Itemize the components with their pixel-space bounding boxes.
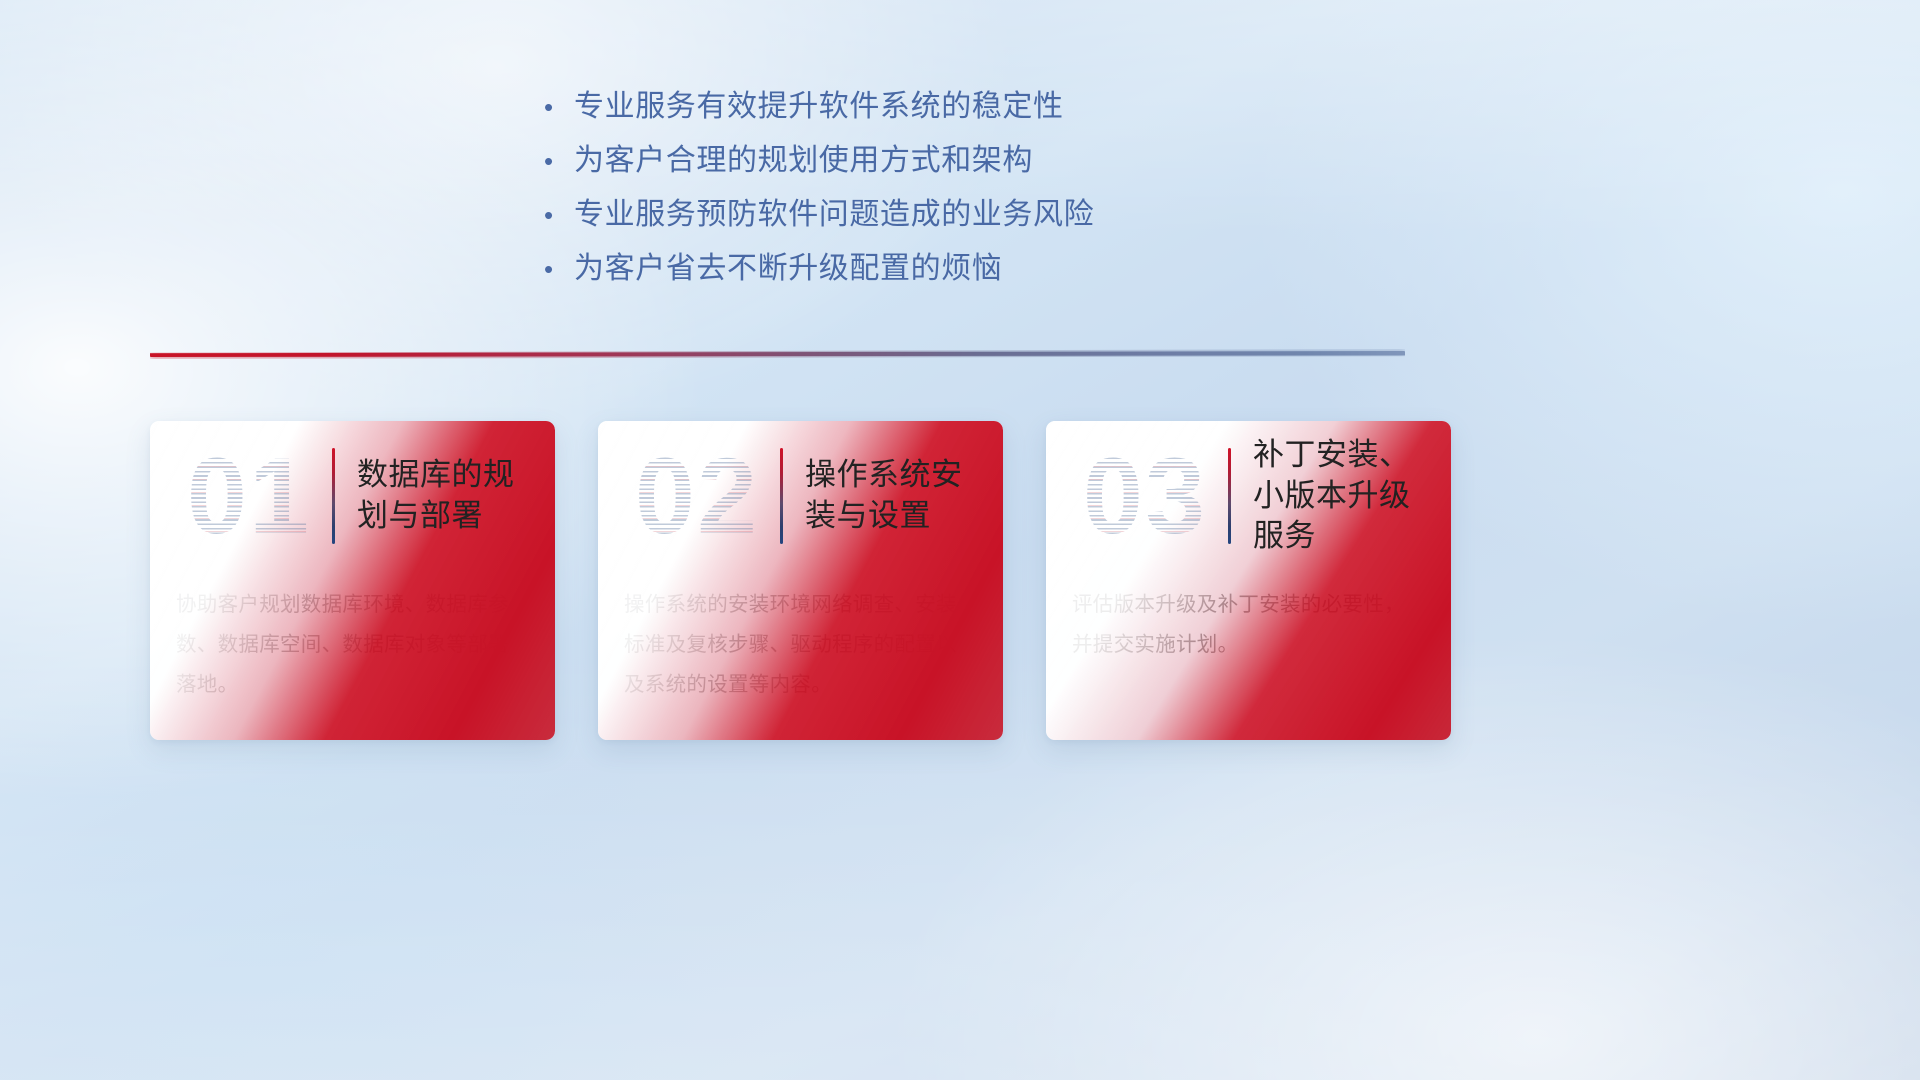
card-accent-bar — [780, 448, 783, 544]
card-title: 操作系统安装与设置 — [805, 455, 1003, 537]
card-number-watermark: 03 — [1066, 440, 1224, 552]
bullet-marker-icon: • — [540, 202, 574, 228]
card-description: 评估版本升级及补丁安装的必要性，并提交实施计划。 — [1046, 571, 1451, 665]
list-item: • 专业服务预防软件问题造成的业务风险 — [540, 196, 1260, 248]
bullet-text: 专业服务预防软件问题造成的业务风险 — [574, 196, 1094, 234]
card-header: 03 补丁安装、小版本升级服务 — [1046, 421, 1451, 571]
card-description: 操作系统的安装环境网络调查、安装标准及复核步骤、驱动程序的配置以及系统的设置等内… — [598, 571, 1003, 705]
service-card-row: 01 数据库的规划与部署 协助客户规划数据库环境、数据库参数、数据库空间、数据库… — [150, 421, 1452, 741]
card-number-watermark: 01 — [170, 440, 328, 552]
card-accent-bar — [332, 448, 335, 544]
bullet-marker-icon: • — [540, 148, 574, 174]
service-card-02[interactable]: 02 操作系统安装与设置 操作系统的安装环境网络调查、安装标准及复核步骤、驱动程… — [598, 421, 1003, 740]
card-header: 01 数据库的规划与部署 — [150, 421, 555, 571]
bullet-text: 为客户省去不断升级配置的烦恼 — [574, 250, 1002, 288]
benefits-bullet-list: • 专业服务有效提升软件系统的稳定性 • 为客户合理的规划使用方式和架构 • 专… — [540, 88, 1260, 304]
card-description: 协助客户规划数据库环境、数据库参数、数据库空间、数据库对象等部署落地。 — [150, 571, 555, 705]
card-title: 数据库的规划与部署 — [357, 455, 555, 537]
service-card-03[interactable]: 03 补丁安装、小版本升级服务 评估版本升级及补丁安装的必要性，并提交实施计划。 — [1046, 421, 1451, 740]
list-item: • 专业服务有效提升软件系统的稳定性 — [540, 88, 1260, 140]
section-divider — [150, 348, 1405, 362]
card-accent-bar — [1228, 448, 1231, 544]
card-header: 02 操作系统安装与设置 — [598, 421, 1003, 571]
card-number-watermark: 02 — [618, 440, 776, 552]
list-item: • 为客户合理的规划使用方式和架构 — [540, 142, 1260, 194]
bullet-marker-icon: • — [540, 94, 574, 120]
bullet-marker-icon: • — [540, 256, 574, 282]
slide-canvas: • 专业服务有效提升软件系统的稳定性 • 为客户合理的规划使用方式和架构 • 专… — [0, 0, 1920, 1080]
bullet-text: 专业服务有效提升软件系统的稳定性 — [574, 88, 1064, 126]
list-item: • 为客户省去不断升级配置的烦恼 — [540, 250, 1260, 302]
bullet-text: 为客户合理的规划使用方式和架构 — [574, 142, 1033, 180]
card-title: 补丁安装、小版本升级服务 — [1253, 435, 1451, 558]
service-card-01[interactable]: 01 数据库的规划与部署 协助客户规划数据库环境、数据库参数、数据库空间、数据库… — [150, 421, 555, 740]
